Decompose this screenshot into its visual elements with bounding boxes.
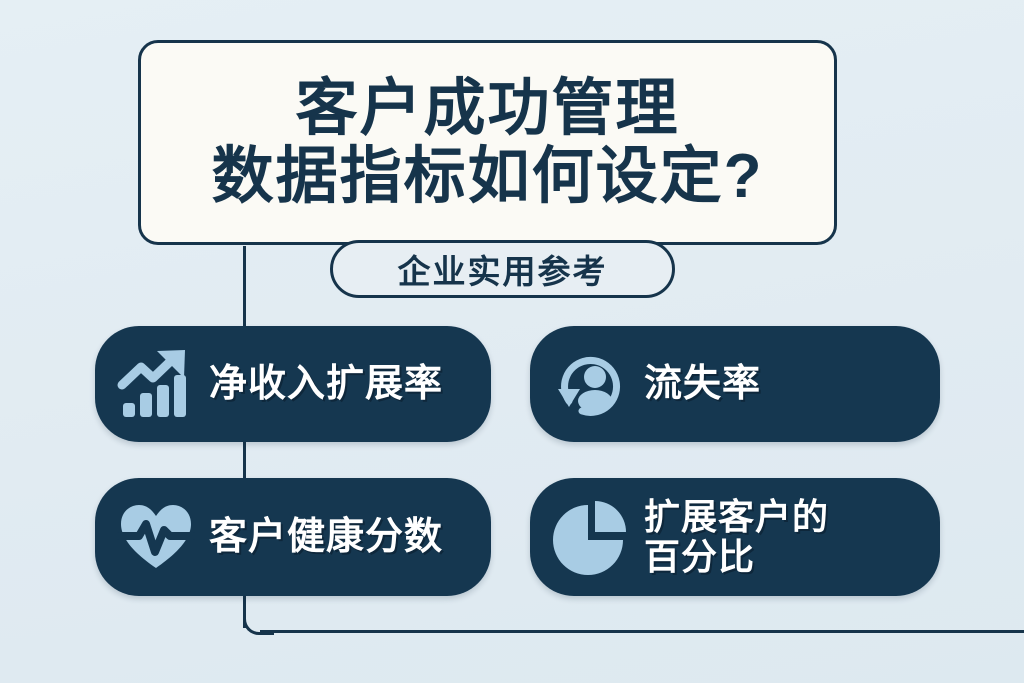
user-churn-rotate-icon (552, 345, 630, 423)
heart-pulse-icon (117, 498, 195, 576)
metric-card-expansion-percentage[interactable]: 扩展客户的 百分比 (530, 478, 940, 596)
metric-card-label: 净收入扩展率 (209, 363, 443, 406)
subtitle-badge: 企业实用参考 (330, 240, 675, 298)
page-title-line-1: 客户成功管理 (295, 76, 679, 142)
metric-card-churn-rate[interactable]: 流失率 (530, 326, 940, 442)
growth-chart-arrow-icon (117, 345, 195, 423)
metric-card-label: 流失率 (644, 363, 761, 406)
connector-title-to-cards (243, 246, 246, 328)
metric-card-label: 客户健康分数 (209, 516, 443, 559)
metric-card-customer-health-score[interactable]: 客户健康分数 (95, 478, 491, 596)
pie-chart-icon (552, 498, 630, 576)
metric-card-net-revenue-retention[interactable]: 净收入扩展率 (95, 326, 491, 442)
infographic-poster: 客户成功管理 数据指标如何设定? 企业实用参考 净收入扩展率 (0, 0, 1024, 683)
connector-row1-to-row2 (243, 440, 246, 478)
metric-card-label: 扩展客户的 百分比 (644, 497, 829, 578)
page-title-line-2: 数据指标如何设定? (212, 144, 764, 210)
subtitle-badge-label: 企业实用参考 (398, 245, 608, 293)
connector-bottom-horizontal (260, 630, 1024, 633)
title-card: 客户成功管理 数据指标如何设定? (138, 40, 837, 245)
